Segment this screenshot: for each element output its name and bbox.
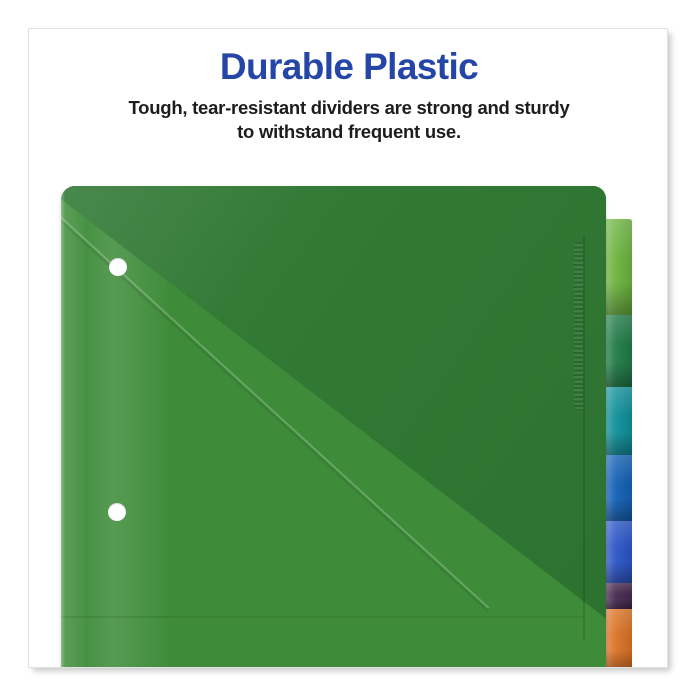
tab-royal-blue (606, 521, 632, 583)
product-photo (29, 29, 668, 668)
tab-orange (606, 609, 632, 668)
punch-hole-bottom (108, 503, 126, 521)
sheet-left-edge-highlight (61, 186, 65, 668)
tab-bottom-shade (606, 650, 632, 668)
plastic-divider-sheet (61, 186, 606, 668)
tab-top-shade (606, 609, 632, 635)
pocket-bottom-seam (61, 616, 584, 618)
product-image-stage: Durable Plastic Tough, tear-resistant di… (0, 0, 700, 700)
tab-top-shade (606, 583, 632, 594)
tab-top-shade (606, 219, 632, 259)
tab-bottom-shade (606, 432, 632, 455)
tab-blue (606, 455, 632, 521)
punch-hole-top (109, 258, 127, 276)
tab-top-shade (606, 455, 632, 483)
pocket-ribbed-texture (574, 242, 583, 410)
tab-bottom-shade (606, 363, 632, 387)
tab-bottom-shade (606, 499, 632, 521)
tab-purple (606, 583, 632, 609)
index-tab-strip (606, 219, 632, 668)
pocket-sealed-edge (583, 236, 585, 640)
tab-dark-green (606, 315, 632, 387)
tab-bottom-shade (606, 562, 632, 583)
tab-lime-green (606, 219, 632, 315)
tab-top-shade (606, 387, 632, 416)
tab-teal (606, 387, 632, 455)
tab-bottom-shade (606, 282, 632, 315)
tab-top-shade (606, 521, 632, 547)
product-card: Durable Plastic Tough, tear-resistant di… (28, 28, 668, 668)
tab-bottom-shade (606, 600, 632, 609)
tab-top-shade (606, 315, 632, 345)
